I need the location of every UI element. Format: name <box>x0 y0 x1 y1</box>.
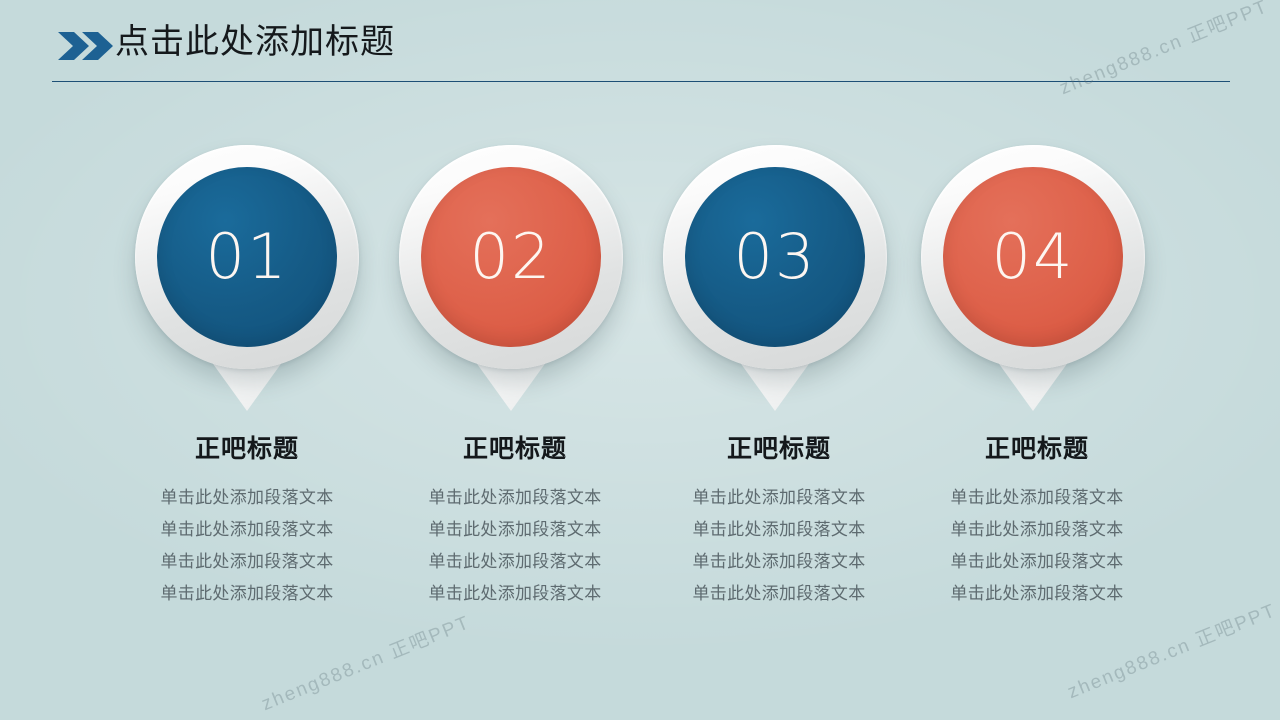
double-chevron-right-icon <box>58 32 116 60</box>
column-heading: 正吧标题 <box>383 432 647 466</box>
list-item: 单击此处添加段落文本 <box>383 482 647 514</box>
page-title: 点击此处添加标题 <box>115 18 395 66</box>
title-divider <box>52 81 1230 82</box>
pin-marker-04[interactable]: 04 <box>908 140 1158 430</box>
list-item: 单击此处添加段落文本 <box>383 514 647 546</box>
pin-number: 02 <box>470 226 553 288</box>
slide-canvas: 点击此处添加标题 01 <box>0 0 1280 720</box>
content-columns: 正吧标题 单击此处添加段落文本 单击此处添加段落文本 单击此处添加段落文本 单击… <box>0 432 1280 642</box>
map-pin-icon: 04 <box>914 143 1152 415</box>
list-item: 单击此处添加段落文本 <box>647 514 911 546</box>
map-pin-icon: 03 <box>656 143 894 415</box>
list-item: 单击此处添加段落文本 <box>905 514 1169 546</box>
map-pin-icon: 02 <box>392 143 630 415</box>
pin-marker-row: 01 02 <box>0 140 1280 430</box>
list-item: 单击此处添加段落文本 <box>383 546 647 578</box>
column-heading: 正吧标题 <box>115 432 379 466</box>
list-item: 单击此处添加段落文本 <box>115 578 379 610</box>
content-column-02: 正吧标题 单击此处添加段落文本 单击此处添加段落文本 单击此处添加段落文本 单击… <box>383 432 647 610</box>
column-body-list: 单击此处添加段落文本 单击此处添加段落文本 单击此处添加段落文本 单击此处添加段… <box>647 482 911 610</box>
column-body-list: 单击此处添加段落文本 单击此处添加段落文本 单击此处添加段落文本 单击此处添加段… <box>905 482 1169 610</box>
pin-marker-01[interactable]: 01 <box>122 140 372 430</box>
list-item: 单击此处添加段落文本 <box>905 482 1169 514</box>
list-item: 单击此处添加段落文本 <box>905 546 1169 578</box>
list-item: 单击此处添加段落文本 <box>905 578 1169 610</box>
content-column-04: 正吧标题 单击此处添加段落文本 单击此处添加段落文本 单击此处添加段落文本 单击… <box>905 432 1169 610</box>
list-item: 单击此处添加段落文本 <box>647 578 911 610</box>
content-column-03: 正吧标题 单击此处添加段落文本 单击此处添加段落文本 单击此处添加段落文本 单击… <box>647 432 911 610</box>
pin-circle: 03 <box>685 167 865 347</box>
pin-circle: 01 <box>157 167 337 347</box>
pin-marker-02[interactable]: 02 <box>386 140 636 430</box>
column-body-list: 单击此处添加段落文本 单击此处添加段落文本 单击此处添加段落文本 单击此处添加段… <box>115 482 379 610</box>
slide-header: 点击此处添加标题 <box>0 0 1280 95</box>
pin-number: 04 <box>992 226 1075 288</box>
column-heading: 正吧标题 <box>647 432 911 466</box>
list-item: 单击此处添加段落文本 <box>647 546 911 578</box>
pin-number: 03 <box>734 226 817 288</box>
column-body-list: 单击此处添加段落文本 单击此处添加段落文本 单击此处添加段落文本 单击此处添加段… <box>383 482 647 610</box>
content-column-01: 正吧标题 单击此处添加段落文本 单击此处添加段落文本 单击此处添加段落文本 单击… <box>115 432 379 610</box>
list-item: 单击此处添加段落文本 <box>115 482 379 514</box>
pin-number: 01 <box>206 226 289 288</box>
pin-circle: 02 <box>421 167 601 347</box>
pin-marker-03[interactable]: 03 <box>650 140 900 430</box>
column-heading: 正吧标题 <box>905 432 1169 466</box>
list-item: 单击此处添加段落文本 <box>115 514 379 546</box>
list-item: 单击此处添加段落文本 <box>647 482 911 514</box>
list-item: 单击此处添加段落文本 <box>115 546 379 578</box>
pin-circle: 04 <box>943 167 1123 347</box>
list-item: 单击此处添加段落文本 <box>383 578 647 610</box>
map-pin-icon: 01 <box>128 143 366 415</box>
